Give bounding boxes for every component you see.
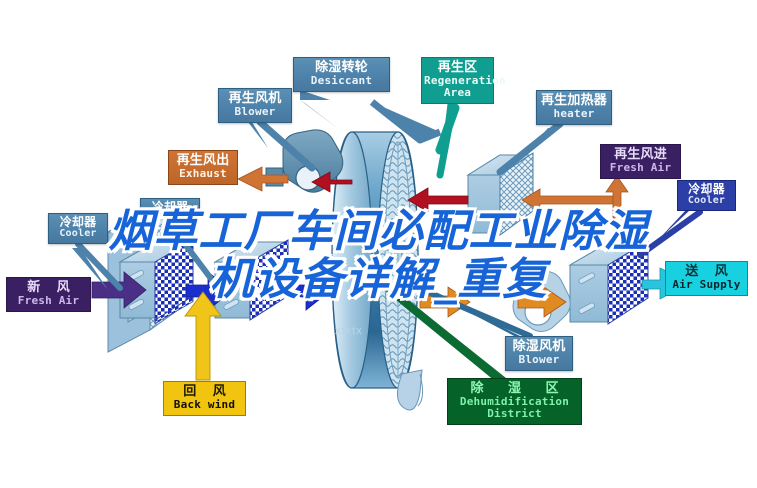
label-exhaust[interactable]: 再生风出 Exhaust [168, 150, 238, 185]
label-desiccant-en: Desiccant [296, 75, 387, 87]
label-air-supply[interactable]: 送 风 Air Supply [665, 261, 748, 296]
label-desiccant-cn: 除湿转轮 [296, 61, 387, 75]
label-air-supply-en: Air Supply [668, 279, 745, 291]
label-back-wind-en: Back wind [166, 399, 243, 411]
label-regeneration-area-en: Regeneration Area [424, 75, 491, 99]
label-back-wind[interactable]: 回 风 Back wind [163, 381, 246, 416]
diagram-canvas: xtxtx 除湿转轮 Desiccant 再生风机 Blower 再生区 Reg… [0, 0, 757, 488]
label-fresh-air-cn: 新 风 [9, 281, 88, 295]
label-dehumidification-district-en: Dehumidification District [450, 396, 579, 420]
label-regen-fresh-air-en: Fresh Air [603, 162, 678, 174]
label-fresh-air-en: Fresh Air [9, 295, 88, 307]
desiccant-rotor-wheel [332, 132, 418, 388]
label-regen-heater-cn: 再生加热器 [539, 94, 609, 108]
label-regen-heater-en: heater [539, 108, 609, 120]
process-arrow-2 [284, 272, 330, 310]
label-regen-blower[interactable]: 再生风机 Blower [218, 88, 292, 123]
label-regen-fresh-air[interactable]: 再生风进 Fresh Air [600, 144, 681, 179]
label-regen-blower-en: Blower [221, 106, 289, 118]
regen-heater-box [468, 153, 533, 235]
label-regen-blower-cn: 再生风机 [221, 92, 289, 106]
label-dehum-blower-en: Blower [508, 354, 570, 366]
label-air-supply-cn: 送 风 [668, 265, 745, 279]
label-dehumidification-district[interactable]: 除 湿 区 Dehumidification District [447, 378, 582, 425]
label-cooler-right-en: Cooler [680, 196, 733, 207]
watermark-text: xtxtx [335, 325, 363, 337]
heater-inlet-arrow [522, 189, 618, 211]
process-ahu-box-2 [215, 240, 288, 320]
label-cooler-left-cn: 冷却器 [51, 216, 105, 229]
label-exhaust-cn: 再生风出 [171, 154, 235, 168]
label-regen-heater[interactable]: 再生加热器 heater [536, 90, 612, 125]
label-dehumidification-district-cn: 除 湿 区 [450, 382, 579, 396]
condensate-trough [397, 370, 422, 410]
label-back-wind-cn: 回 风 [166, 385, 243, 399]
label-dehum-blower-cn: 除湿风机 [508, 340, 570, 354]
label-regen-fresh-air-cn: 再生风进 [603, 148, 678, 162]
label-regeneration-area[interactable]: 再生区 Regeneration Area [421, 57, 494, 104]
label-cooler-mid-cn: 冷却器 [143, 201, 197, 214]
label-regeneration-area-cn: 再生区 [424, 61, 491, 75]
label-desiccant[interactable]: 除湿转轮 Desiccant [293, 57, 390, 92]
label-dehum-blower[interactable]: 除湿风机 Blower [505, 336, 573, 371]
label-cooler-right-cn: 冷却器 [680, 183, 733, 196]
label-exhaust-en: Exhaust [171, 168, 235, 180]
label-cooler-left[interactable]: 冷却器 Cooler [48, 213, 108, 244]
label-fresh-air[interactable]: 新 风 Fresh Air [6, 277, 91, 312]
label-cooler-left-en: Cooler [51, 229, 105, 240]
label-cooler-right[interactable]: 冷却器 Cooler [677, 180, 736, 211]
supply-ahu-box [570, 241, 648, 324]
label-cooler-mid[interactable]: 冷却器 [140, 198, 200, 218]
